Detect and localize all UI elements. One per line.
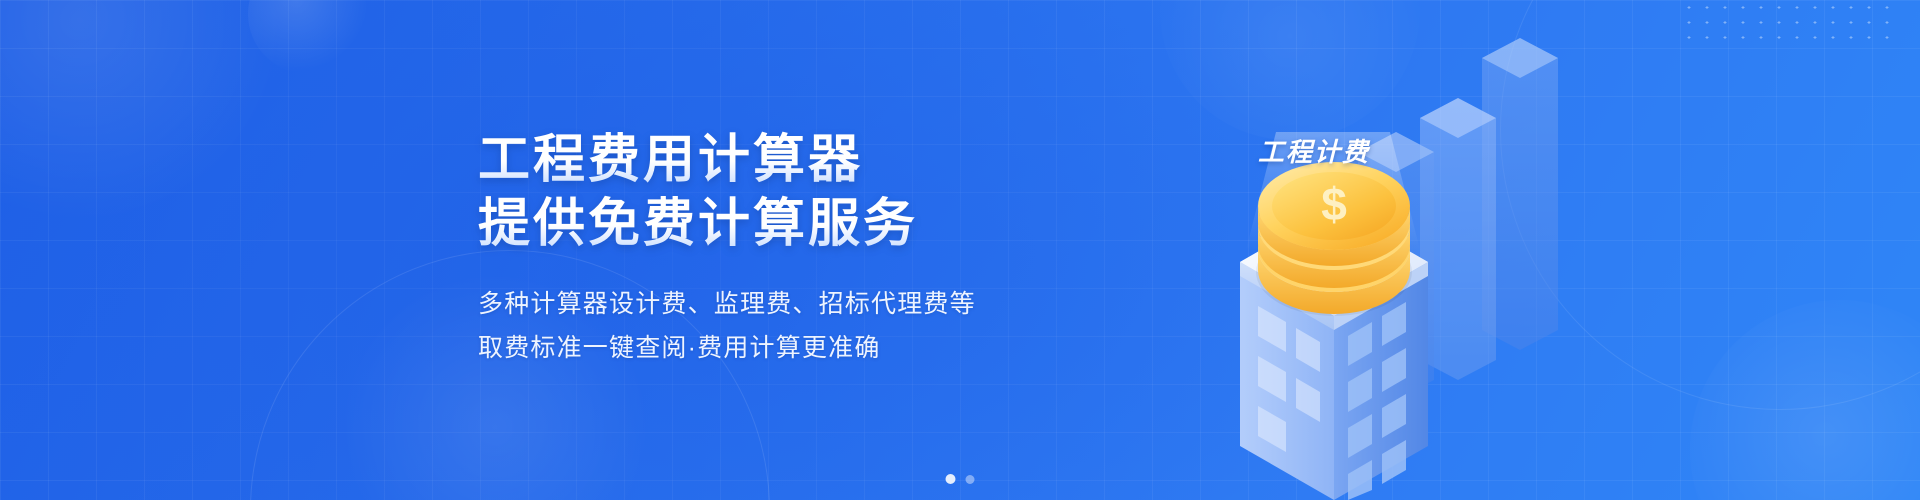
hero-banner: 工程费用计算器 提供免费计算服务 多种计算器设计费、监理费、招标代理费等 取费标… xyxy=(0,0,1920,500)
coin-dollar-symbol: $ xyxy=(1321,178,1347,230)
decorative-blob-top-left xyxy=(0,0,290,230)
carousel-dot-1[interactable] xyxy=(946,474,956,484)
headline-line-2: 提供免费计算服务 xyxy=(478,192,1118,256)
carousel-dot-2[interactable] xyxy=(966,475,975,484)
subtitle-line-1: 多种计算器设计费、监理费、招标代理费等 xyxy=(478,282,1118,326)
subtitle-line-2: 取费标准一键查阅·费用计算更准确 xyxy=(478,326,1118,370)
dot-matrix-decoration xyxy=(1680,0,1900,46)
illustration-badge-label: 工程计费 xyxy=(1258,132,1370,169)
carousel-dots[interactable] xyxy=(946,474,975,484)
banner-copy-block: 工程费用计算器 提供免费计算服务 多种计算器设计费、监理费、招标代理费等 取费标… xyxy=(478,128,1118,370)
gold-coin-stack: $ xyxy=(1256,162,1412,316)
headline-line-1: 工程费用计算器 xyxy=(478,128,1118,192)
banner-illustration: $ 工程计费 xyxy=(1090,0,1650,500)
decorative-blob-bottom-right xyxy=(1690,300,1920,500)
isometric-city-illustration: $ xyxy=(1090,0,1650,500)
decorative-blob-small xyxy=(248,0,368,74)
